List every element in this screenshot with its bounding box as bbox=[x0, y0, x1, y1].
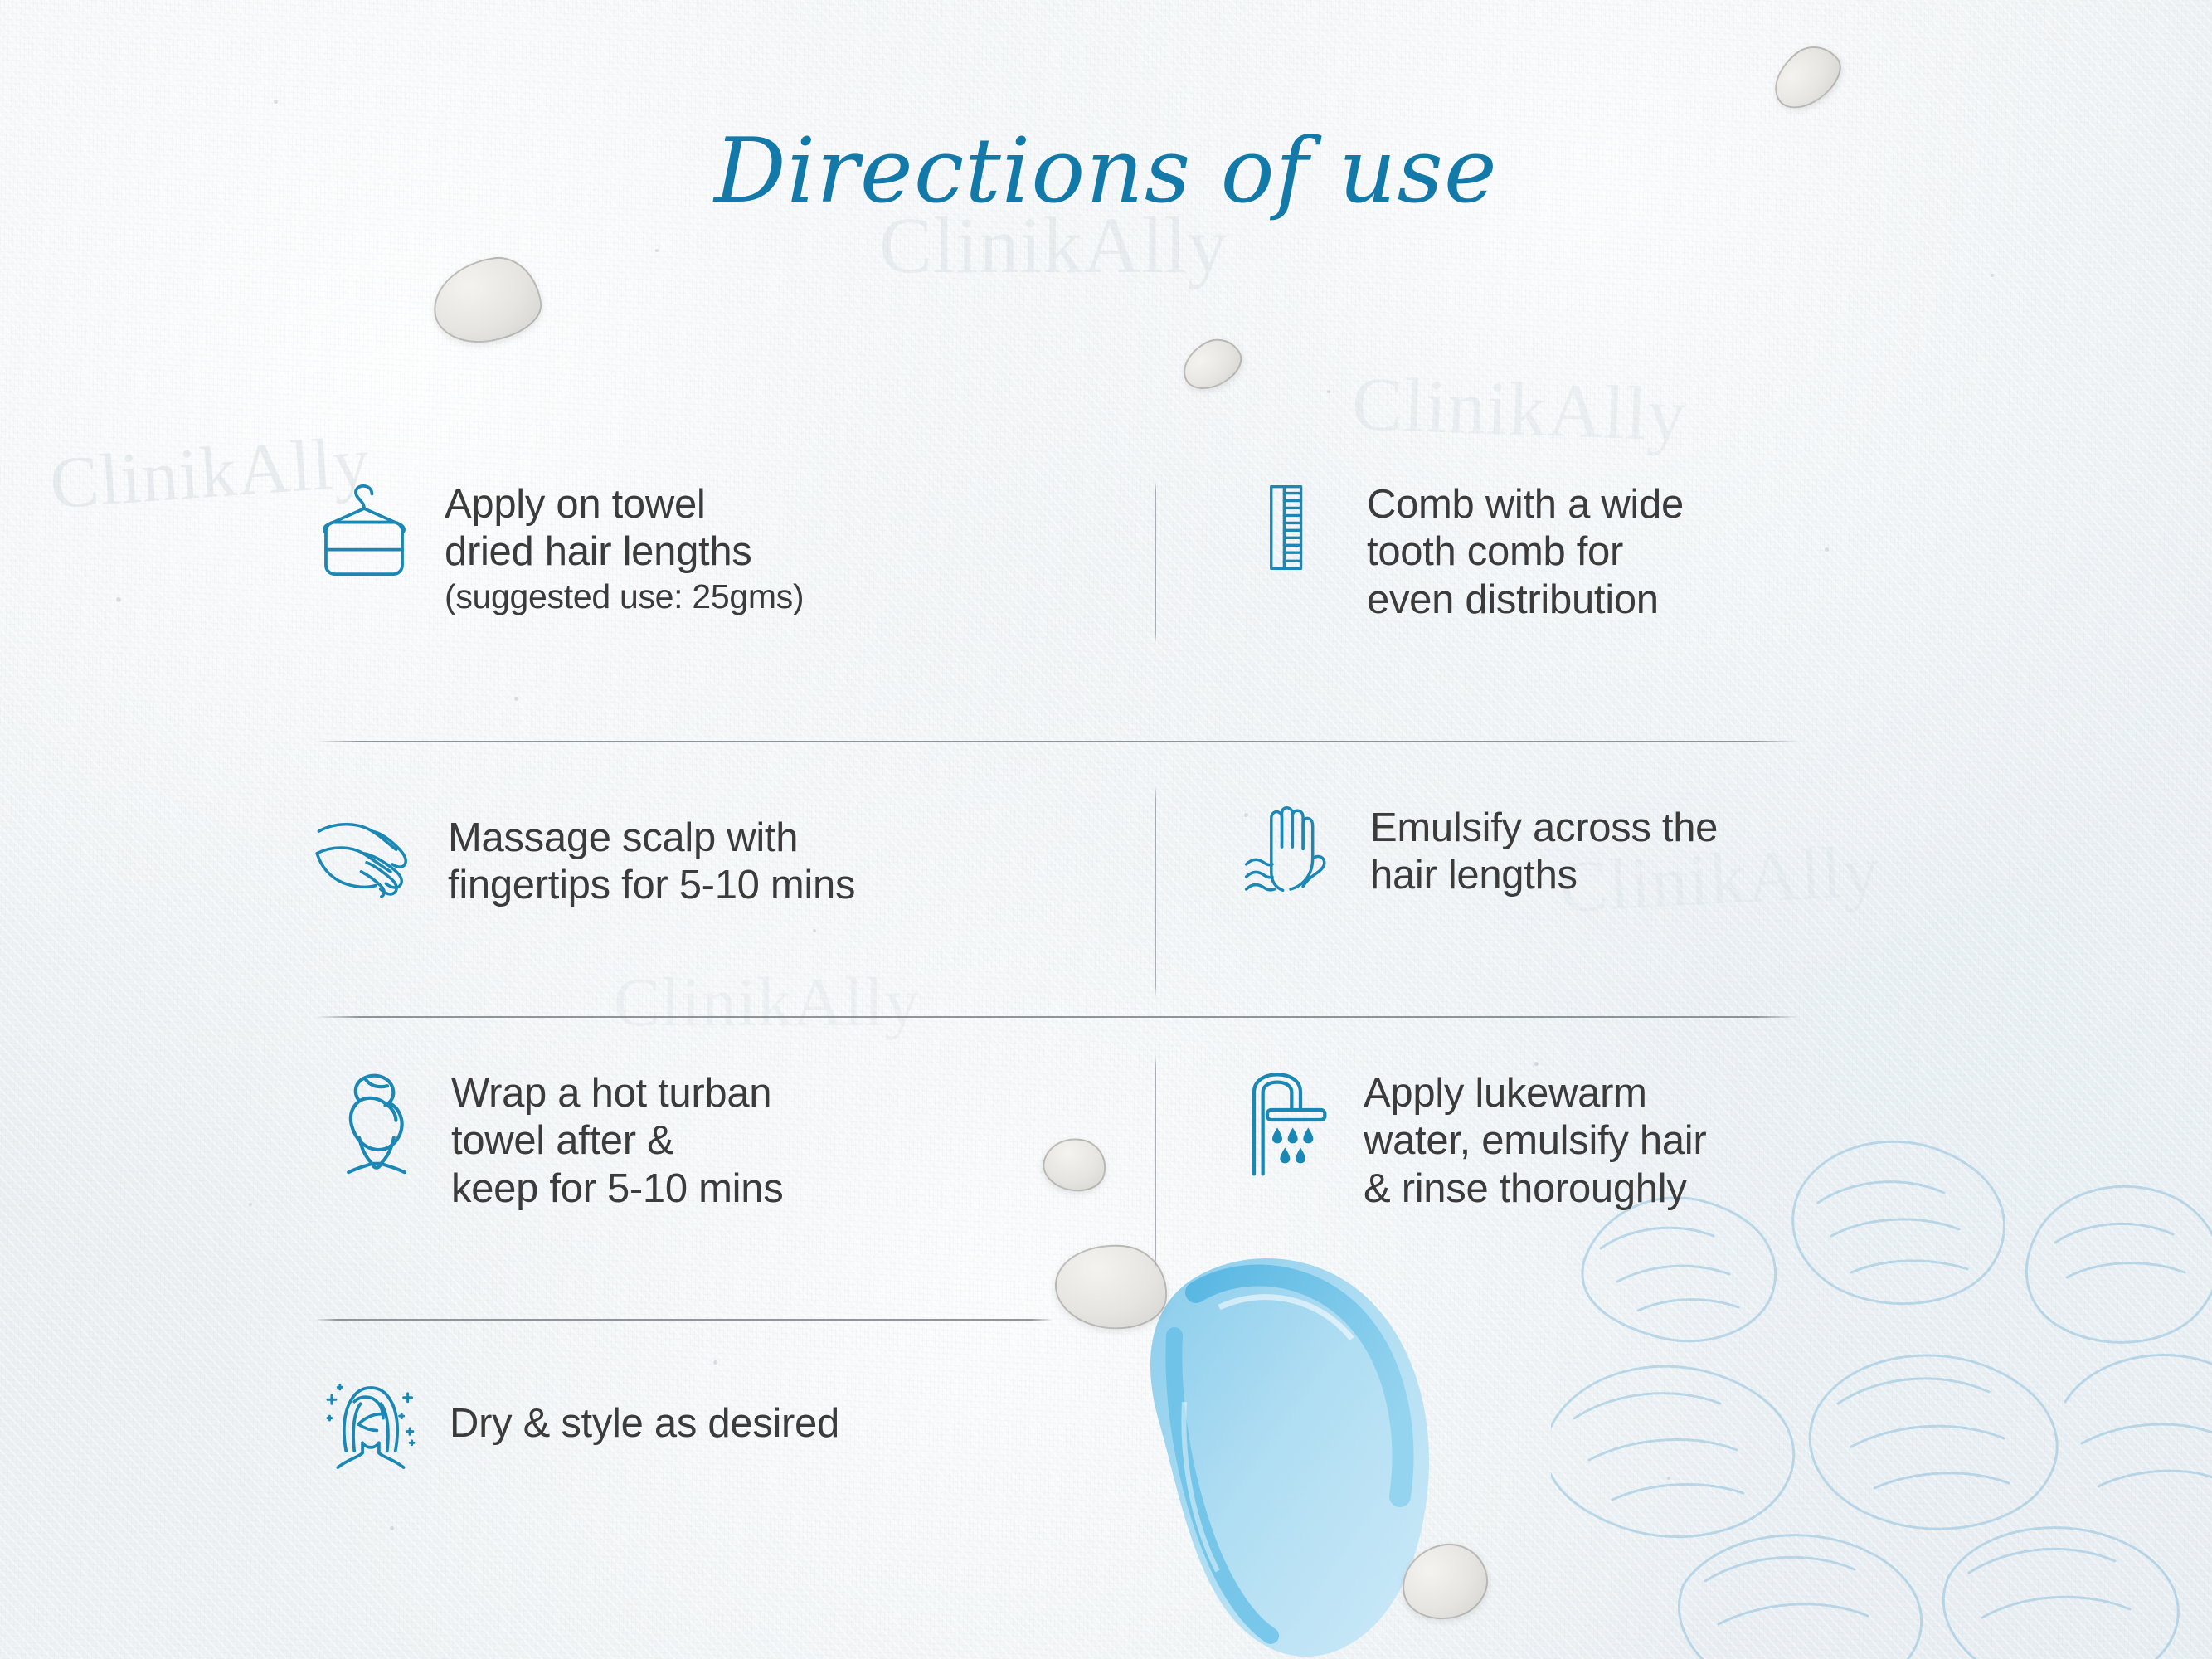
step-line-3: even distribution bbox=[1367, 577, 1659, 622]
step-line-3: (suggested use: 25gms) bbox=[445, 577, 804, 617]
step-line-1: Apply on towel bbox=[445, 482, 706, 527]
step-text: Wrap a hot turban towel after & keep for… bbox=[451, 1070, 783, 1213]
step-text: Comb with a wide tooth comb for even dis… bbox=[1367, 481, 1684, 624]
directions-of-use-poster: ClinikAlly ClinikAlly ClinikAlly ClinikA… bbox=[0, 0, 2212, 1659]
step-emulsify-across-hair: Emulsify across the hair lengths bbox=[1153, 798, 1883, 901]
step-line-1: Dry & style as desired bbox=[450, 1401, 839, 1446]
steps-row-1: Apply on towel dried hair lengths (sugge… bbox=[315, 481, 1883, 730]
pebble-decoration bbox=[1395, 1536, 1495, 1627]
pebble-decoration bbox=[428, 251, 547, 348]
step-text: Emulsify across the hair lengths bbox=[1370, 805, 1718, 900]
step-text: Apply on towel dried hair lengths (sugge… bbox=[445, 481, 804, 617]
step-massage-scalp: Massage scalp with fingertips for 5-10 m… bbox=[315, 798, 1153, 910]
column-divider bbox=[1155, 481, 1156, 643]
row-divider bbox=[315, 741, 1800, 742]
step-line-1: Apply lukewarm bbox=[1364, 1071, 1647, 1116]
pebble-decoration bbox=[1174, 330, 1250, 398]
step-line-1: Emulsify across the bbox=[1370, 805, 1718, 850]
brand-watermark: ClinikAlly bbox=[1350, 359, 1688, 459]
column-divider bbox=[1155, 1055, 1156, 1269]
step-text: Massage scalp with fingertips for 5-10 m… bbox=[448, 815, 855, 910]
step-line-1: Massage scalp with bbox=[448, 815, 798, 860]
step-line-2: water, emulsify hair bbox=[1364, 1118, 1706, 1163]
directions-steps-grid: Apply on towel dried hair lengths (sugge… bbox=[315, 481, 1883, 1470]
step-line-1: Wrap a hot turban bbox=[451, 1071, 771, 1116]
hanger-towel-icon bbox=[315, 481, 413, 579]
step-line-1: Comb with a wide bbox=[1367, 482, 1684, 527]
step-text: Apply lukewarm water, emulsify hair & ri… bbox=[1364, 1070, 1706, 1213]
step-line-3: & rinse thoroughly bbox=[1364, 1166, 1687, 1211]
open-palm-water-icon bbox=[1242, 805, 1339, 901]
step-line-3: keep for 5-10 mins bbox=[451, 1166, 783, 1211]
step-apply-lukewarm-water: Apply lukewarm water, emulsify hair & ri… bbox=[1153, 1070, 1883, 1213]
step-text: Dry & style as desired bbox=[450, 1400, 839, 1447]
shower-head-icon bbox=[1242, 1070, 1332, 1176]
step-line-2: towel after & bbox=[451, 1118, 673, 1163]
step-wrap-hot-turban-towel: Wrap a hot turban towel after & keep for… bbox=[315, 1070, 1153, 1213]
steps-row-2: Massage scalp with fingertips for 5-10 m… bbox=[315, 798, 1883, 1004]
step-dry-and-style: Dry & style as desired bbox=[315, 1379, 1153, 1470]
woman-long-hair-sparkle-icon bbox=[323, 1379, 418, 1470]
step-line-2: dried hair lengths bbox=[445, 529, 752, 574]
step-line-2: fingertips for 5-10 mins bbox=[448, 863, 855, 907]
steps-row-3: Wrap a hot turban towel after & keep for… bbox=[315, 1070, 1883, 1319]
step-line-2: tooth comb for bbox=[1367, 529, 1623, 574]
pebble-decoration bbox=[1762, 34, 1851, 119]
turban-head-icon bbox=[333, 1070, 420, 1180]
wide-tooth-comb-icon bbox=[1242, 481, 1335, 574]
step-comb-with-wide-tooth-comb: Comb with a wide tooth comb for even dis… bbox=[1153, 481, 1883, 624]
step-line-2: hair lengths bbox=[1370, 853, 1578, 898]
page-title: Directions of use bbox=[0, 123, 2212, 221]
row-divider bbox=[315, 1319, 1053, 1321]
row-divider bbox=[315, 1016, 1800, 1018]
step-apply-on-towel-dried-hair: Apply on towel dried hair lengths (sugge… bbox=[315, 481, 1153, 617]
massaging-hand-icon bbox=[315, 815, 416, 898]
column-divider bbox=[1155, 786, 1156, 998]
steps-row-4: Dry & style as desired bbox=[315, 1379, 1883, 1470]
